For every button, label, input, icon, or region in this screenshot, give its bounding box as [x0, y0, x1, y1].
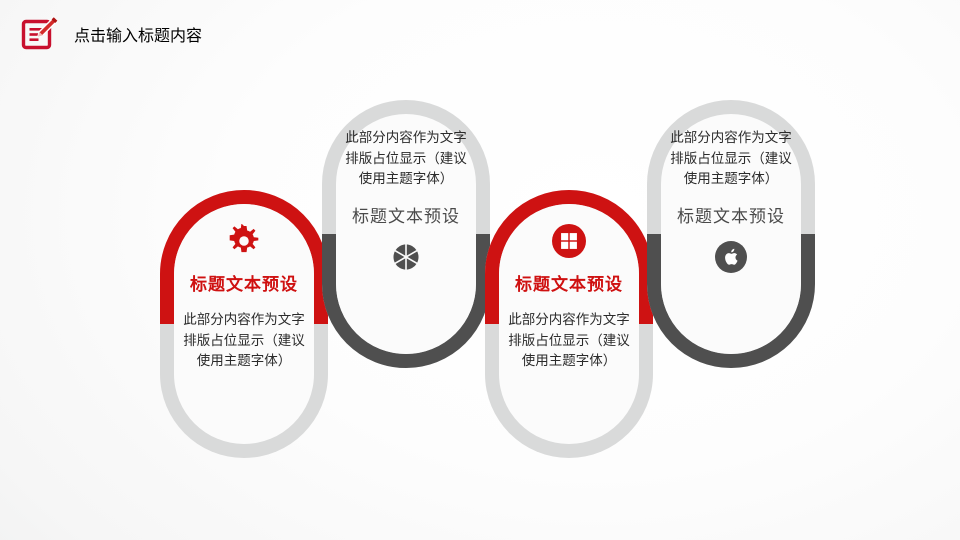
- pill-card-3[interactable]: 标题文本预设 此部分内容作为文字排版占位显示（建议使用主题字体）: [485, 190, 653, 458]
- slide-header: 点击输入标题内容: [20, 14, 202, 54]
- pill-title-4: 标题文本预设: [677, 207, 785, 227]
- windows-logo-icon: [552, 224, 586, 258]
- pill-body-2: 此部分内容作为文字排版占位显示（建议使用主题字体）: [344, 128, 468, 190]
- edit-note-pencil-icon: [20, 14, 60, 54]
- pill-body-3: 此部分内容作为文字排版占位显示（建议使用主题字体）: [507, 310, 631, 372]
- apple-logo-icon: [715, 241, 747, 273]
- pill-title-1: 标题文本预设: [190, 275, 298, 295]
- pill-card-4[interactable]: 此部分内容作为文字排版占位显示（建议使用主题字体） 标题文本预设: [647, 100, 815, 368]
- pill-body-1: 此部分内容作为文字排版占位显示（建议使用主题字体）: [182, 310, 306, 372]
- pill-content-4: 此部分内容作为文字排版占位显示（建议使用主题字体） 标题文本预设: [647, 100, 815, 368]
- page-title: 点击输入标题内容: [74, 22, 202, 46]
- pill-content-3: 标题文本预设 此部分内容作为文字排版占位显示（建议使用主题字体）: [485, 190, 653, 458]
- pill-card-2[interactable]: 此部分内容作为文字排版占位显示（建议使用主题字体） 标题文本预设: [322, 100, 490, 368]
- pill-title-3: 标题文本预设: [515, 275, 623, 295]
- pill-content-1: 标题文本预设 此部分内容作为文字排版占位显示（建议使用主题字体）: [160, 190, 328, 458]
- pill-title-2: 标题文本预设: [352, 207, 460, 227]
- slide-canvas: 点击输入标题内容 标题文本预设 此部分内容作为文字排版占位显示（建议使用主题字体…: [0, 0, 960, 540]
- pill-content-2: 此部分内容作为文字排版占位显示（建议使用主题字体） 标题文本预设: [322, 100, 490, 368]
- pill-card-1[interactable]: 标题文本预设 此部分内容作为文字排版占位显示（建议使用主题字体）: [160, 190, 328, 458]
- pill-body-4: 此部分内容作为文字排版占位显示（建议使用主题字体）: [669, 128, 793, 190]
- gear-icon: [227, 224, 261, 258]
- camera-aperture-icon: [390, 241, 422, 273]
